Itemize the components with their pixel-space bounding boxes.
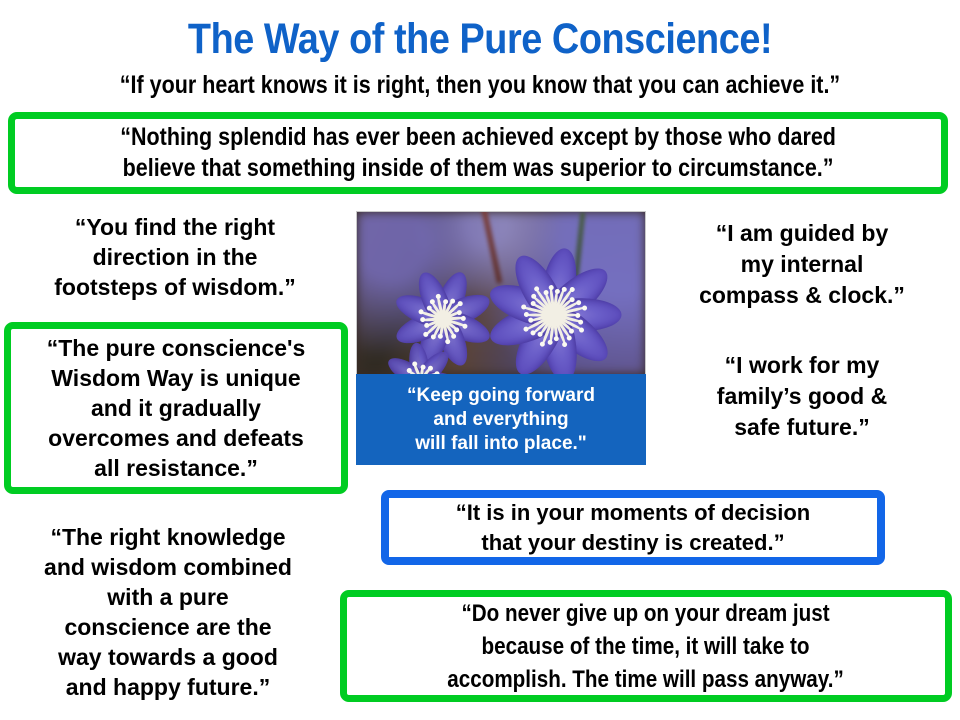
quote-box-never-give-up: “Do never give up on your dream just bec… — [340, 590, 952, 702]
quote-line: family’s good & — [652, 381, 952, 412]
quote-box-pure-conscience: “The pure conscience's Wisdom Way is uni… — [4, 322, 348, 494]
caption-line: will fall into place." — [407, 432, 595, 456]
quote-text-wisdom-footsteps: “You find the right direction in the foo… — [8, 212, 342, 302]
quote-line: footsteps of wisdom.” — [8, 272, 342, 302]
quote-line: direction in the — [8, 242, 342, 272]
quote-line: with a pure — [6, 582, 330, 612]
quote-line: safe future.” — [652, 412, 952, 443]
quote-line: “The pure conscience's — [47, 333, 306, 363]
quote-line: way towards a good — [6, 642, 330, 672]
quote-line: “Nothing splendid has ever been achieved… — [120, 122, 836, 153]
caption-line: and everything — [407, 408, 595, 432]
quote-text-internal-compass: “I am guided by my internal compass & cl… — [652, 218, 952, 311]
quote-box-nothing-splendid: “Nothing splendid has ever been achieved… — [8, 112, 948, 194]
hepatica-flower-photo — [356, 211, 646, 375]
quote-text-family-future: “I work for my family’s good & safe futu… — [652, 350, 952, 443]
page-subtitle: “If your heart knows it is right, then y… — [67, 70, 893, 100]
quote-line: “I am guided by — [652, 218, 952, 249]
slide-canvas: The Way of the Pure Conscience! “If your… — [0, 0, 960, 720]
quote-line: and happy future.” — [6, 672, 330, 702]
quote-line: “It is in your moments of decision — [456, 498, 811, 528]
quote-line: “You find the right — [8, 212, 342, 242]
page-title: The Way of the Pure Conscience! — [58, 14, 903, 64]
quote-line: “Do never give up on your dream just — [448, 597, 845, 630]
quote-line: Wisdom Way is unique — [47, 363, 306, 393]
quote-line: conscience are the — [6, 612, 330, 642]
quote-line: all resistance.” — [47, 453, 306, 483]
quote-line: and wisdom combined — [6, 552, 330, 582]
quote-line: believe that something inside of them wa… — [120, 153, 836, 184]
quote-line: and it gradually — [47, 393, 306, 423]
quote-box-moments-decision: “It is in your moments of decision that … — [381, 490, 885, 565]
quote-text-right-knowledge: “The right knowledge and wisdom combined… — [6, 522, 330, 702]
caption-line: “Keep going forward — [407, 384, 595, 408]
quote-line: my internal — [652, 249, 952, 280]
quote-line: “I work for my — [652, 350, 952, 381]
quote-line: “The right knowledge — [6, 522, 330, 552]
quote-line: that your destiny is created.” — [456, 528, 811, 558]
quote-line: accomplish. The time will pass anyway.” — [448, 663, 845, 696]
quote-line: compass & clock.” — [652, 280, 952, 311]
photo-caption-box: “Keep going forward and everything will … — [356, 374, 646, 465]
quote-line: because of the time, it will take to — [448, 630, 845, 663]
quote-line: overcomes and defeats — [47, 423, 306, 453]
